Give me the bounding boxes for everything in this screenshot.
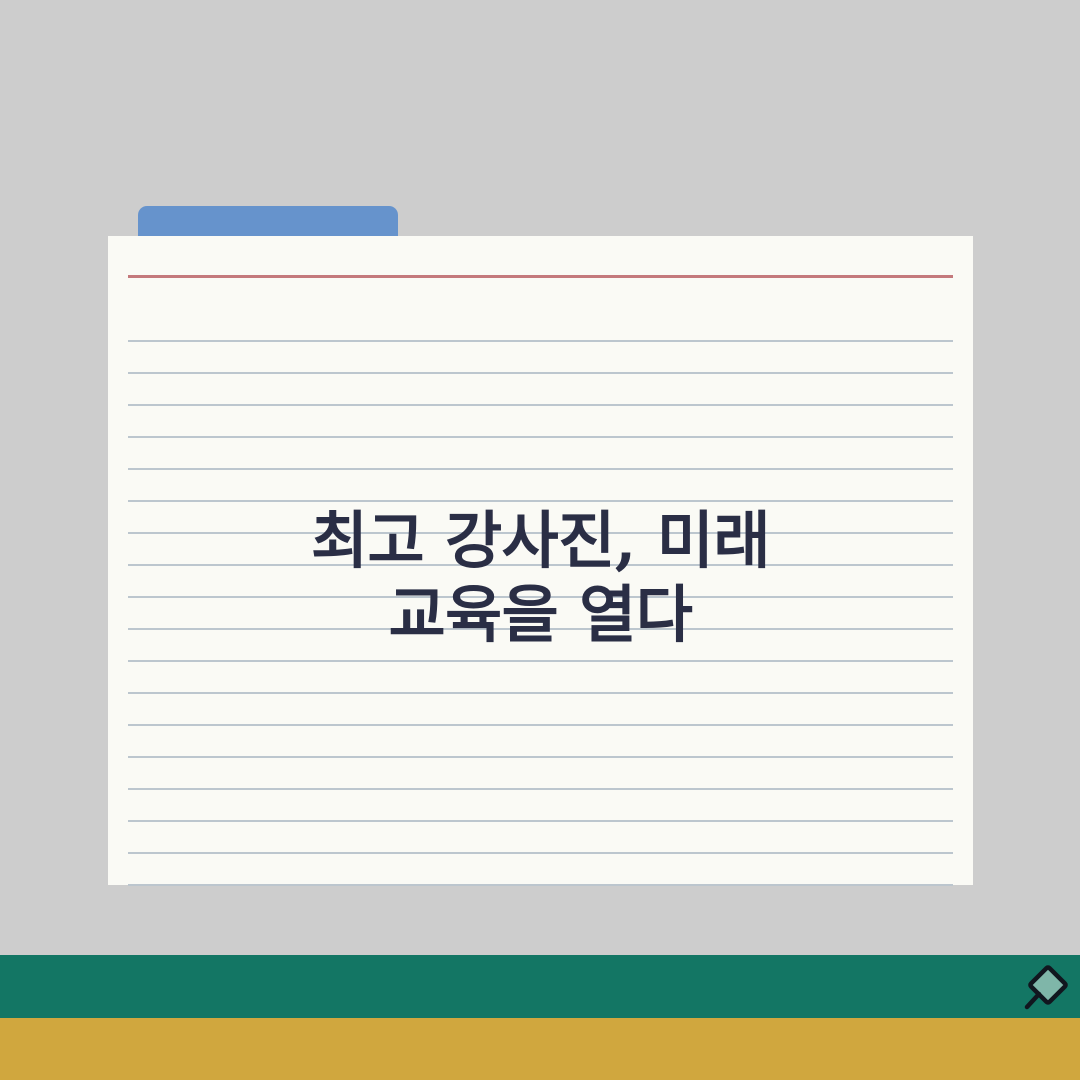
teal-band (0, 955, 1080, 1018)
rule-line (128, 340, 953, 342)
rule-line (128, 788, 953, 790)
poster-canvas: 최고 강사진, 미래 교육을 열다 (0, 0, 1080, 1080)
rule-line (128, 468, 953, 470)
gold-band (0, 1018, 1080, 1080)
headline-line-1: 최고 강사진, 미래 (168, 504, 913, 578)
rule-line (128, 692, 953, 694)
pushpin-icon (1022, 963, 1074, 1015)
headline-line-2: 교육을 열다 (168, 578, 913, 652)
rule-line (128, 820, 953, 822)
rule-line (128, 660, 953, 662)
rule-line (128, 404, 953, 406)
ruled-note-card: 최고 강사진, 미래 교육을 열다 (108, 236, 973, 885)
rule-line (128, 724, 953, 726)
headline-block: 최고 강사진, 미래 교육을 열다 (108, 504, 973, 652)
margin-rule-line (128, 275, 953, 278)
rule-line (128, 500, 953, 502)
rule-line (128, 884, 953, 886)
rule-line (128, 852, 953, 854)
rule-line (128, 372, 953, 374)
rule-line (128, 436, 953, 438)
rule-line (128, 756, 953, 758)
